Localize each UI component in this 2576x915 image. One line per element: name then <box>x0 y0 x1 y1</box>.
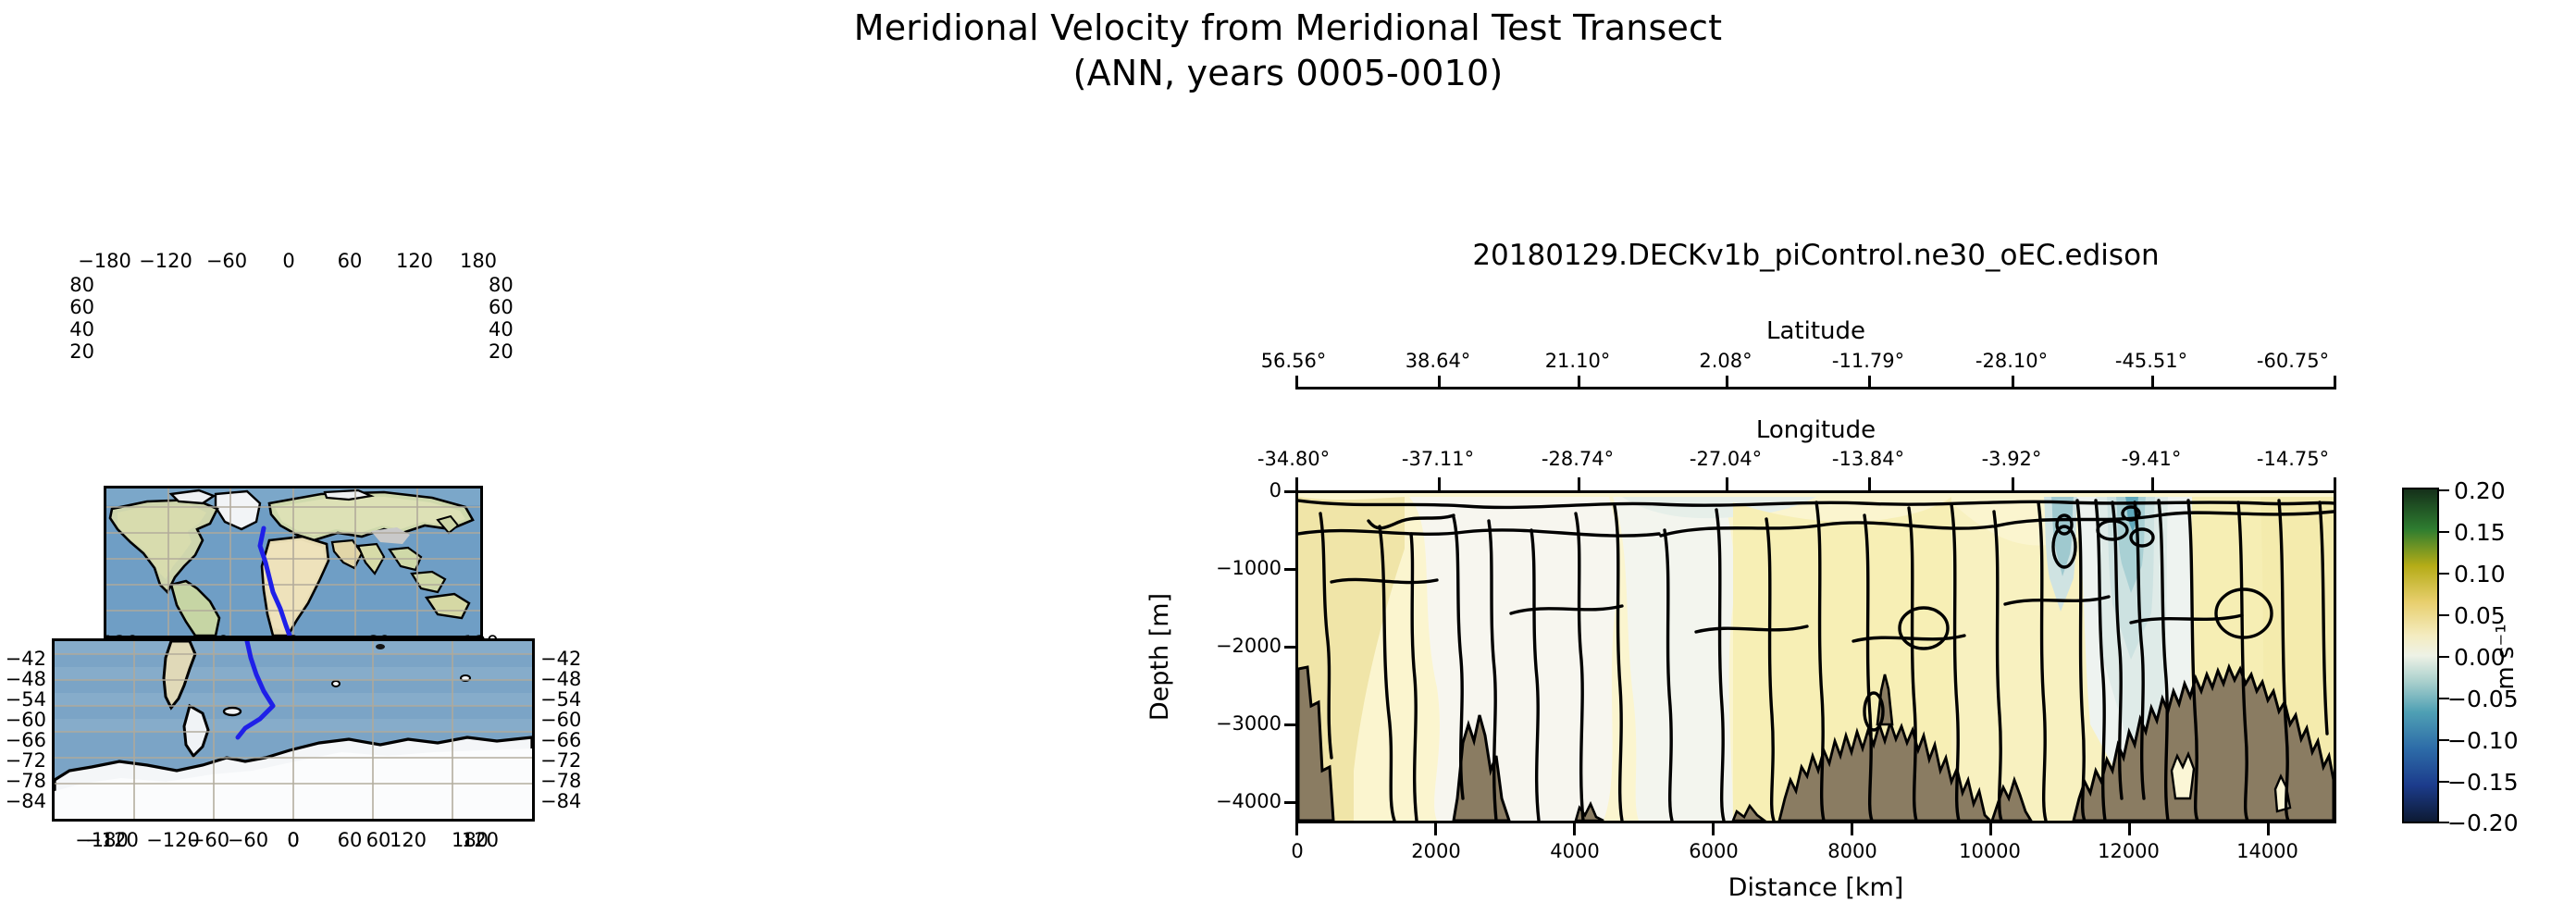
distance-tick: 0 <box>1258 840 1336 862</box>
latitude-tick: 38.64° <box>1373 350 1503 372</box>
latitude-tick-mark <box>2334 376 2336 388</box>
global-map-ytick-right: 20 <box>489 340 514 363</box>
southern-map-ytick-right: −60 <box>540 709 581 731</box>
global-map-xtick: 180 <box>451 250 506 272</box>
colorbar-tick-mark <box>2439 656 2449 658</box>
southern-map-ytick-left: −60 <box>0 709 46 731</box>
southern-map-ytick-left: −72 <box>0 749 46 772</box>
global-map-xtick: 0 <box>270 250 307 272</box>
depth-tick: 0 <box>1184 479 1282 501</box>
colorbar-tick-mark <box>2439 614 2449 616</box>
longitude-tick: -27.04° <box>1661 448 1790 470</box>
southern-map-xtick-inner-dup: 120 <box>452 829 508 851</box>
latitude-axis-rule <box>1295 387 2336 389</box>
southern-map-ytick-left: −48 <box>0 668 46 690</box>
southern-map-ytick-right: −42 <box>540 648 581 670</box>
southern-map-xtick-inner-dup: −60 <box>181 829 237 851</box>
distance-tick: 12000 <box>2085 840 2173 862</box>
longitude-tick-mark <box>1868 477 1871 490</box>
colorbar[interactable] <box>2402 488 2439 823</box>
distance-tick: 14000 <box>2223 840 2311 862</box>
longitude-tick-mark <box>1578 477 1580 490</box>
southern-map-ytick-right: −66 <box>540 729 581 751</box>
latitude-tick: -45.51° <box>2082 350 2221 372</box>
colorbar-tick-mark <box>2439 573 2449 575</box>
depth-tick-mark <box>1284 490 1296 493</box>
distance-tick: 2000 <box>1397 840 1475 862</box>
colorbar-tick: 0.10 <box>2454 561 2506 587</box>
global-map-ytick-left: 40 <box>56 318 94 340</box>
latitude-tick: -11.79° <box>1799 350 1938 372</box>
depth-tick-mark <box>1284 646 1296 649</box>
global-map-xtick: −60 <box>199 250 254 272</box>
global-map-ytick-left: 60 <box>56 296 94 318</box>
colorbar-tick: 0.05 <box>2454 602 2506 629</box>
southern-map-ytick-left: −66 <box>0 729 46 751</box>
global-map-ytick-right: 80 <box>489 274 514 296</box>
colorbar-tick: 0.20 <box>2454 477 2506 504</box>
southern-map-ytick-left: −42 <box>0 648 46 670</box>
latitude-tick-mark <box>1438 376 1441 388</box>
colorbar-tick: −0.15 <box>2447 769 2519 796</box>
distance-tick-mark <box>1434 823 1437 835</box>
depth-tick: −3000 <box>1184 712 1282 735</box>
southern-map-xtick-inner-dup: 60 <box>357 829 400 851</box>
longitude-tick: -34.80° <box>1229 448 1358 470</box>
longitude-tick-mark <box>1295 477 1298 490</box>
latitude-tick: 21.10° <box>1513 350 1642 372</box>
depth-tick-mark <box>1284 568 1296 571</box>
latitude-tick-mark <box>1868 376 1871 388</box>
longitude-tick: -14.75° <box>2223 448 2362 470</box>
distance-axis-label: Distance [km] <box>1295 873 2336 902</box>
distance-tick-mark <box>2128 823 2131 835</box>
longitude-tick-mark <box>2151 477 2154 490</box>
global-map-ytick-left: 20 <box>56 340 94 363</box>
latitude-tick-mark <box>1726 376 1728 388</box>
latitude-tick: -60.75° <box>2223 350 2362 372</box>
colorbar-tick: −0.10 <box>2447 727 2519 754</box>
southern-map-ytick-right: −72 <box>540 749 581 772</box>
latitude-tick: 2.08° <box>1661 350 1790 372</box>
southern-map-ytick-left: −54 <box>0 688 46 711</box>
southern-map-ytick-right: −78 <box>540 770 581 792</box>
longitude-tick: -28.74° <box>1513 448 1642 470</box>
southern-map-ytick-right: −54 <box>540 688 581 711</box>
distance-tick-mark <box>1573 823 1576 835</box>
latitude-tick: 56.56° <box>1229 350 1358 372</box>
velocity-section-plot[interactable] <box>1295 490 2336 823</box>
colorbar-tick-mark <box>2439 531 2449 533</box>
colorbar-tick: −0.20 <box>2447 810 2519 836</box>
depth-axis-label: Depth [m] <box>1146 518 1174 796</box>
longitude-tick: -9.41° <box>2082 448 2221 470</box>
latitude-axis-label: Latitude <box>1295 317 2336 345</box>
latitude-tick-mark <box>2012 376 2014 388</box>
longitude-axis-label: Longitude <box>1295 416 2336 444</box>
distance-tick-mark <box>1295 823 1298 835</box>
colorbar-tick: −0.05 <box>2447 686 2519 712</box>
distance-tick: 8000 <box>1814 840 1891 862</box>
global-map-graphic <box>106 488 480 636</box>
southern-map-ytick-left: −78 <box>0 770 46 792</box>
global-map[interactable] <box>104 486 483 638</box>
global-map-xtick: −180 <box>72 250 137 272</box>
colorbar-tick-mark <box>2439 489 2449 491</box>
southern-ocean-map[interactable] <box>52 638 535 822</box>
global-map-xtick: −120 <box>133 250 198 272</box>
distance-tick: 6000 <box>1675 840 1752 862</box>
figure-canvas: Meridional Velocity from Meridional Test… <box>0 0 2576 915</box>
longitude-tick: -3.92° <box>1942 448 2081 470</box>
longitude-tick-mark <box>1438 477 1441 490</box>
figure-suptitle: Meridional Velocity from Meridional Test… <box>0 6 2576 97</box>
latitude-tick-mark <box>1295 376 1298 388</box>
southern-ocean-map-graphic <box>55 641 532 819</box>
global-map-ytick-right: 40 <box>489 318 514 340</box>
depth-tick-mark <box>1284 801 1296 804</box>
southern-map-xtick-inner-dup: −120 <box>80 829 144 851</box>
depth-tick-mark <box>1284 723 1296 726</box>
colorbar-tick: 0.00 <box>2454 644 2506 671</box>
distance-tick: 4000 <box>1536 840 1614 862</box>
global-map-ytick-left: 80 <box>56 274 94 296</box>
distance-tick-mark <box>1989 823 1992 835</box>
distance-tick: 10000 <box>1946 840 2034 862</box>
distance-tick-mark <box>1851 823 1853 835</box>
longitude-tick-mark <box>1726 477 1728 490</box>
southern-map-xtick-inner-dup: 0 <box>275 829 312 851</box>
distance-tick-mark <box>2267 823 2270 835</box>
distance-tick-mark <box>1712 823 1715 835</box>
longitude-tick-mark <box>2334 477 2336 490</box>
panel-title: 20180129.DECKv1b_piControl.ne30_oEC.edis… <box>1295 239 2336 272</box>
southern-map-ytick-left: −84 <box>0 790 46 812</box>
global-map-xtick: 120 <box>387 250 442 272</box>
velocity-section-graphic <box>1298 493 2334 821</box>
depth-tick: −1000 <box>1184 557 1282 579</box>
colorbar-tick: 0.15 <box>2454 519 2506 546</box>
depth-tick: −2000 <box>1184 635 1282 657</box>
longitude-tick: -13.84° <box>1799 448 1938 470</box>
global-map-ytick-right: 60 <box>489 296 514 318</box>
southern-map-ytick-right: −48 <box>540 668 581 690</box>
longitude-tick-mark <box>2012 477 2014 490</box>
longitude-tick: -37.11° <box>1373 448 1503 470</box>
global-map-xtick: 60 <box>328 250 371 272</box>
latitude-tick-mark <box>1578 376 1580 388</box>
latitude-tick: -28.10° <box>1942 350 2081 372</box>
southern-map-ytick-right: −84 <box>540 790 581 812</box>
latitude-tick-mark <box>2151 376 2154 388</box>
depth-tick: −4000 <box>1184 790 1282 812</box>
